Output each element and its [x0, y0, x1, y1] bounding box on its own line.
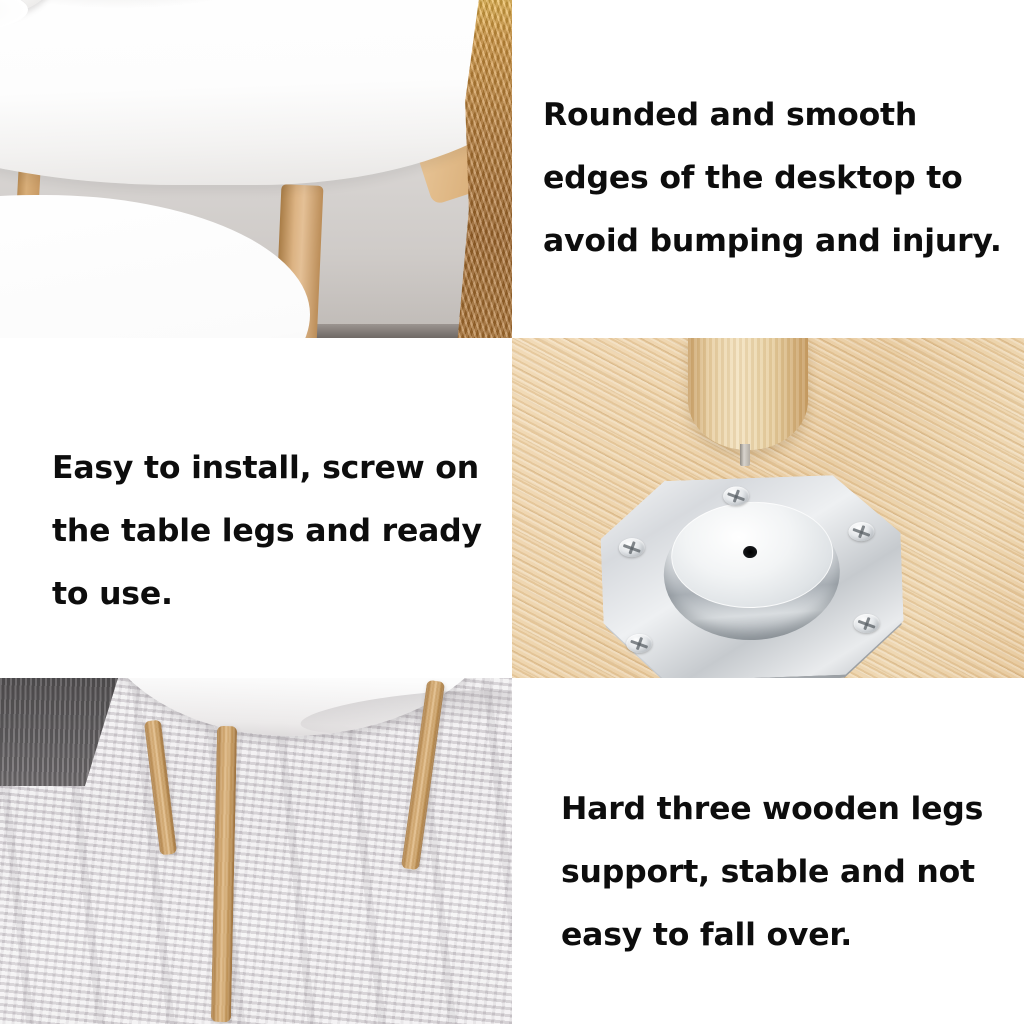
caption-rounded-edges: Rounded and smooth edges of the desktop … — [543, 84, 1005, 273]
white-tabletop — [0, 0, 512, 185]
wooden-table-leg — [688, 338, 808, 450]
threaded-bolt-icon — [740, 444, 750, 466]
product-feature-infographic: Rounded and smooth edges of the desktop … — [0, 0, 1024, 1024]
saucer — [0, 0, 50, 25]
caption-easy-install: Easy to install, screw on the table legs… — [52, 437, 482, 626]
photo-panel-three-legs — [0, 678, 512, 1024]
caption-three-legs: Hard three wooden legs support, stable a… — [561, 778, 1001, 967]
chrome-mounting-plate — [599, 473, 906, 678]
photo-panel-table-top — [0, 0, 512, 338]
tabletop-shadow — [0, 0, 270, 8]
photo-panel-mounting-hardware — [512, 338, 1024, 678]
saucer-rim — [0, 0, 28, 36]
